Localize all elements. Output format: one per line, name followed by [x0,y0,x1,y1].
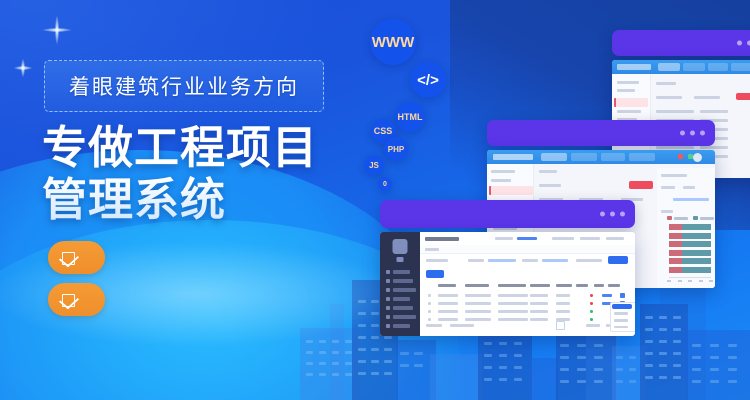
tech-bubble-label: CSS [374,126,393,136]
sidebar-item-icon [386,270,390,274]
building-window [710,344,719,347]
building-window [514,342,522,345]
tech-bubble-label: PHP [388,145,404,154]
building-window [659,364,667,367]
building-window [728,356,737,359]
sidebar-item[interactable] [393,306,413,310]
middle-window-tab[interactable] [629,153,655,161]
building-window [577,368,586,371]
building-window [358,324,366,327]
table-cell [498,318,528,321]
building-window [645,376,653,379]
title-line-2: 管理系统 [42,174,372,226]
chart-bar-row [669,267,711,273]
chart-bar-row [669,233,711,239]
table-cell [556,310,570,313]
chart-panel-title [661,174,687,177]
building-window [692,356,701,359]
building-window [319,362,326,365]
building-window [358,360,366,363]
add-button[interactable] [426,270,444,278]
middle-table-header [539,184,561,187]
tech-bubble-: </> [410,62,446,98]
building-window [659,352,667,355]
checkbox-checked-icon [62,251,76,265]
chart-bar-segment [682,267,711,273]
dropdown-option[interactable] [614,319,628,322]
table-cell [438,310,458,313]
building-window [645,316,653,319]
chart-x-tick-label [688,280,692,282]
building-window [358,300,366,303]
table-cell [530,294,548,297]
building-window [499,342,507,345]
front-topnav-item-active[interactable] [517,237,537,240]
building-window [514,354,522,357]
middle-selected-item[interactable] [489,186,533,195]
building-window [306,373,313,376]
building-window [673,352,681,355]
building [300,328,360,400]
table-cell [465,318,491,321]
building-window [414,364,423,367]
building-window [371,336,379,339]
building-window [499,366,507,369]
tech-bubble-label: 0 [383,181,387,188]
building-window [629,356,636,359]
building-window [616,380,623,383]
sidebar-item[interactable] [393,270,410,274]
back-table-cell [656,110,694,113]
back-window-tab[interactable] [683,63,705,71]
front-window-titlebar [380,200,635,228]
chart-filter-label [661,186,675,189]
building [396,340,436,400]
building-window [358,336,366,339]
middle-window-logo [493,154,533,160]
chart-section-label [661,210,673,213]
middle-primary-button[interactable] [629,181,653,189]
building-window [560,356,569,359]
back-nav-item[interactable] [617,89,635,92]
back-table-cell [700,110,728,113]
building-window [332,373,339,376]
building-window [371,348,379,351]
table-column-header [556,284,572,287]
page-title: 专做工程项目 管理系统 [42,122,372,226]
building-window [673,376,681,379]
building-window [645,364,653,367]
building-window [645,352,653,355]
table-column-header [438,284,456,287]
building-window [673,328,681,331]
promo-banner: WWW</>HTMLCSSPHPJS0 [0,0,750,400]
sidebar-item[interactable] [393,288,416,292]
front-window-breadcrumb-bar [420,245,635,254]
building-window [577,356,586,359]
building-window [306,340,313,343]
front-topnav-item[interactable] [580,237,600,240]
sidebar-item-icon [386,279,390,283]
building-window [560,368,569,371]
feature-badge[interactable] [48,241,105,274]
back-window-tab[interactable] [708,63,728,71]
checkbox-checked-icon [62,293,76,307]
building-window [616,368,623,371]
building-window [400,364,409,367]
chart-bar-segment [669,258,682,264]
filter-select[interactable] [542,259,568,262]
building-window [673,316,681,319]
back-table-header [656,96,682,99]
building [330,304,344,400]
building-window [319,340,326,343]
building-window [692,380,701,383]
table-cell [438,294,458,297]
building-window [384,348,392,351]
building-window [384,360,392,363]
building-window [728,344,737,347]
chart-bar-segment [669,267,682,273]
building [640,304,688,400]
tech-bubble-HTML: HTML [395,102,425,132]
building [430,354,482,400]
building-window [514,366,522,369]
table-cell [498,294,528,297]
back-window-logo [617,64,651,70]
building [612,346,646,400]
front-window-body [380,232,635,336]
sidebar-item-icon [386,297,390,301]
building-window [345,340,352,343]
back-window-tab[interactable] [658,63,680,71]
chart-bar-row [669,258,711,264]
building-window [332,351,339,354]
row-checkbox[interactable] [428,302,431,305]
tech-bubble-label: WWW [372,34,414,51]
building [478,328,532,400]
front-dashboard [380,200,635,336]
chart-bar-segment [669,224,682,230]
building-window [499,354,507,357]
pagination-size[interactable] [586,324,600,327]
chart-legend-item [667,216,688,220]
chart-bar-segment [682,250,711,256]
app-logo-caption [397,257,404,262]
building-window [645,328,653,331]
back-window-tab[interactable] [731,63,750,71]
chart-bar-segment [669,250,682,256]
sidebar-item[interactable] [393,315,416,319]
chart-bar-row [669,224,711,230]
building-window [692,368,701,371]
filter-label [576,259,602,262]
sidebar-item-icon [386,324,390,328]
sparkle-small-icon [14,59,33,78]
table-column-header [608,284,620,287]
tech-bubble-label: HTML [398,112,423,122]
window-dots-icon [680,131,705,136]
middle-window-tab[interactable] [601,153,625,161]
filter-label [426,259,448,262]
chart-x-tick-label [709,280,713,282]
table-column-header [465,284,489,287]
building [530,358,558,400]
table-cell [530,302,548,305]
table-cell [465,294,491,297]
building-window [484,366,492,369]
filter-label [468,259,484,262]
front-window-sidebar[interactable] [380,232,420,336]
feature-badge-list [48,241,105,325]
building-window [560,380,569,383]
middle-breadcrumb [539,170,557,173]
building-window [594,380,603,383]
back-table-header [694,96,720,99]
building-window [645,340,653,343]
building-window [484,342,492,345]
row-checkbox[interactable] [428,318,431,321]
chart-bar-segment [669,241,682,247]
building-window [659,316,667,319]
building-window [345,351,352,354]
table-cell [465,310,491,313]
middle-window-tab[interactable] [571,153,597,161]
building-window [306,351,313,354]
building-window [673,340,681,343]
building-window [629,368,636,371]
building-window [319,373,326,376]
dropdown-option[interactable] [614,312,628,315]
table-column-header [594,284,604,287]
back-nav-item[interactable] [617,81,639,84]
sidebar-item[interactable] [393,324,410,328]
building-window [710,368,719,371]
status-dot-green [590,318,593,321]
tech-bubble-WWW: WWW [370,19,416,65]
table-cell [498,302,528,305]
front-topnav-item[interactable] [606,237,624,240]
status-dot-red [590,294,593,297]
status-dot-red [590,302,593,305]
sidebar-item-icon [386,315,390,319]
filter-label [522,259,538,262]
chart-x-tick-label [678,280,682,282]
middle-window-titlebar [487,120,715,146]
tech-bubble-0: 0 [378,177,392,191]
building-window [499,378,507,381]
building-window [358,312,366,315]
table-cell [530,310,548,313]
sidebar-item[interactable] [393,297,410,301]
table-cell [530,318,548,321]
table-cell [438,318,458,321]
building-window [345,373,352,376]
building-window [673,364,681,367]
row-action-icon[interactable] [620,293,625,298]
front-topnav-item[interactable] [495,237,513,240]
feature-badge[interactable] [48,283,105,316]
pagination-page[interactable] [556,321,565,330]
breadcrumb [425,248,439,251]
chart-x-tick-label [667,280,671,282]
back-window-selected-item[interactable] [614,98,648,107]
title-line-1: 专做工程项目 [42,122,372,174]
building-window [358,372,366,375]
building-window [371,372,379,375]
back-window-titlebar [612,30,750,56]
building-window [484,378,492,381]
subtitle-text: 着眼建筑行业业务方向 [69,71,299,101]
building-window [384,336,392,339]
building-window [332,340,339,343]
status-dot-green [590,310,593,313]
filter-select[interactable] [488,259,516,262]
chart-bar-segment [669,233,682,239]
building-window [710,356,719,359]
table-cell [438,302,458,305]
building-window [384,372,392,375]
building-window [514,378,522,381]
pagination-info [426,324,442,327]
building-window [659,340,667,343]
sparkle-large-icon [42,15,72,45]
tech-bubble-PHP: PHP [384,137,408,161]
table-cell [556,294,570,297]
back-primary-button[interactable] [736,93,750,100]
building-window [594,368,603,371]
notification-icon[interactable] [678,154,683,159]
sidebar-item-icon [386,306,390,310]
avatar[interactable] [693,153,702,162]
building-window [371,300,379,303]
sidebar-item[interactable] [393,279,413,283]
chart-filter-value[interactable] [673,198,709,201]
row-checkbox[interactable] [428,294,431,297]
table-column-header [576,284,588,287]
building-window [728,368,737,371]
building-window [629,380,636,383]
building-window [659,376,667,379]
chart-x-axis [669,277,711,278]
row-link[interactable] [602,294,612,297]
middle-nav-item[interactable] [491,170,515,173]
middle-window-tab[interactable] [541,153,567,161]
table-column-header [530,284,550,287]
table-cell [556,302,570,305]
building [686,330,750,400]
chart-bar-segment [682,241,711,247]
chart-bar-segment [682,258,711,264]
building-window [484,354,492,357]
building-window [659,328,667,331]
chart-bar-segment [682,224,711,230]
building-window [319,351,326,354]
building-window [577,380,586,383]
chart-filter-label [683,186,695,189]
building-window [577,344,586,347]
front-page-title [425,237,459,241]
building-window [400,352,409,355]
middle-nav-item[interactable] [491,179,511,182]
table-cell [465,302,491,305]
building-window [616,356,623,359]
dropdown-option[interactable] [614,326,628,328]
building-window [414,352,423,355]
search-button[interactable] [608,256,628,264]
building-window [692,344,701,347]
building-window [358,348,366,351]
building-window [345,362,352,365]
chart-bar-segment [682,233,711,239]
tech-bubble-label: </> [417,72,439,89]
building-window [710,380,719,383]
chart-x-tick-label [699,280,703,282]
back-table-label [656,82,676,85]
table-cell [498,310,528,313]
back-nav-item[interactable] [617,110,641,113]
chart-bar-row [669,241,711,247]
building-window [728,380,737,383]
window-dots-icon [737,41,750,46]
building-window [371,312,379,315]
building-window [594,344,603,347]
row-checkbox[interactable] [428,310,431,313]
dropdown-option-selected[interactable] [612,304,632,309]
building-window [306,362,313,365]
app-logo-icon [393,239,408,254]
front-topnav-item[interactable] [552,237,574,240]
chart-bar-row [669,250,711,256]
building-window [560,344,569,347]
window-dots-icon [600,212,625,217]
sidebar-item-icon [386,288,390,292]
pagination-info [450,324,474,327]
building-window [371,360,379,363]
subtitle-box: 着眼建筑行业业务方向 [44,60,324,112]
building-window [332,362,339,365]
chart-legend-item [693,216,714,220]
building-window [594,356,603,359]
building-window [371,324,379,327]
table-column-header [498,284,526,287]
